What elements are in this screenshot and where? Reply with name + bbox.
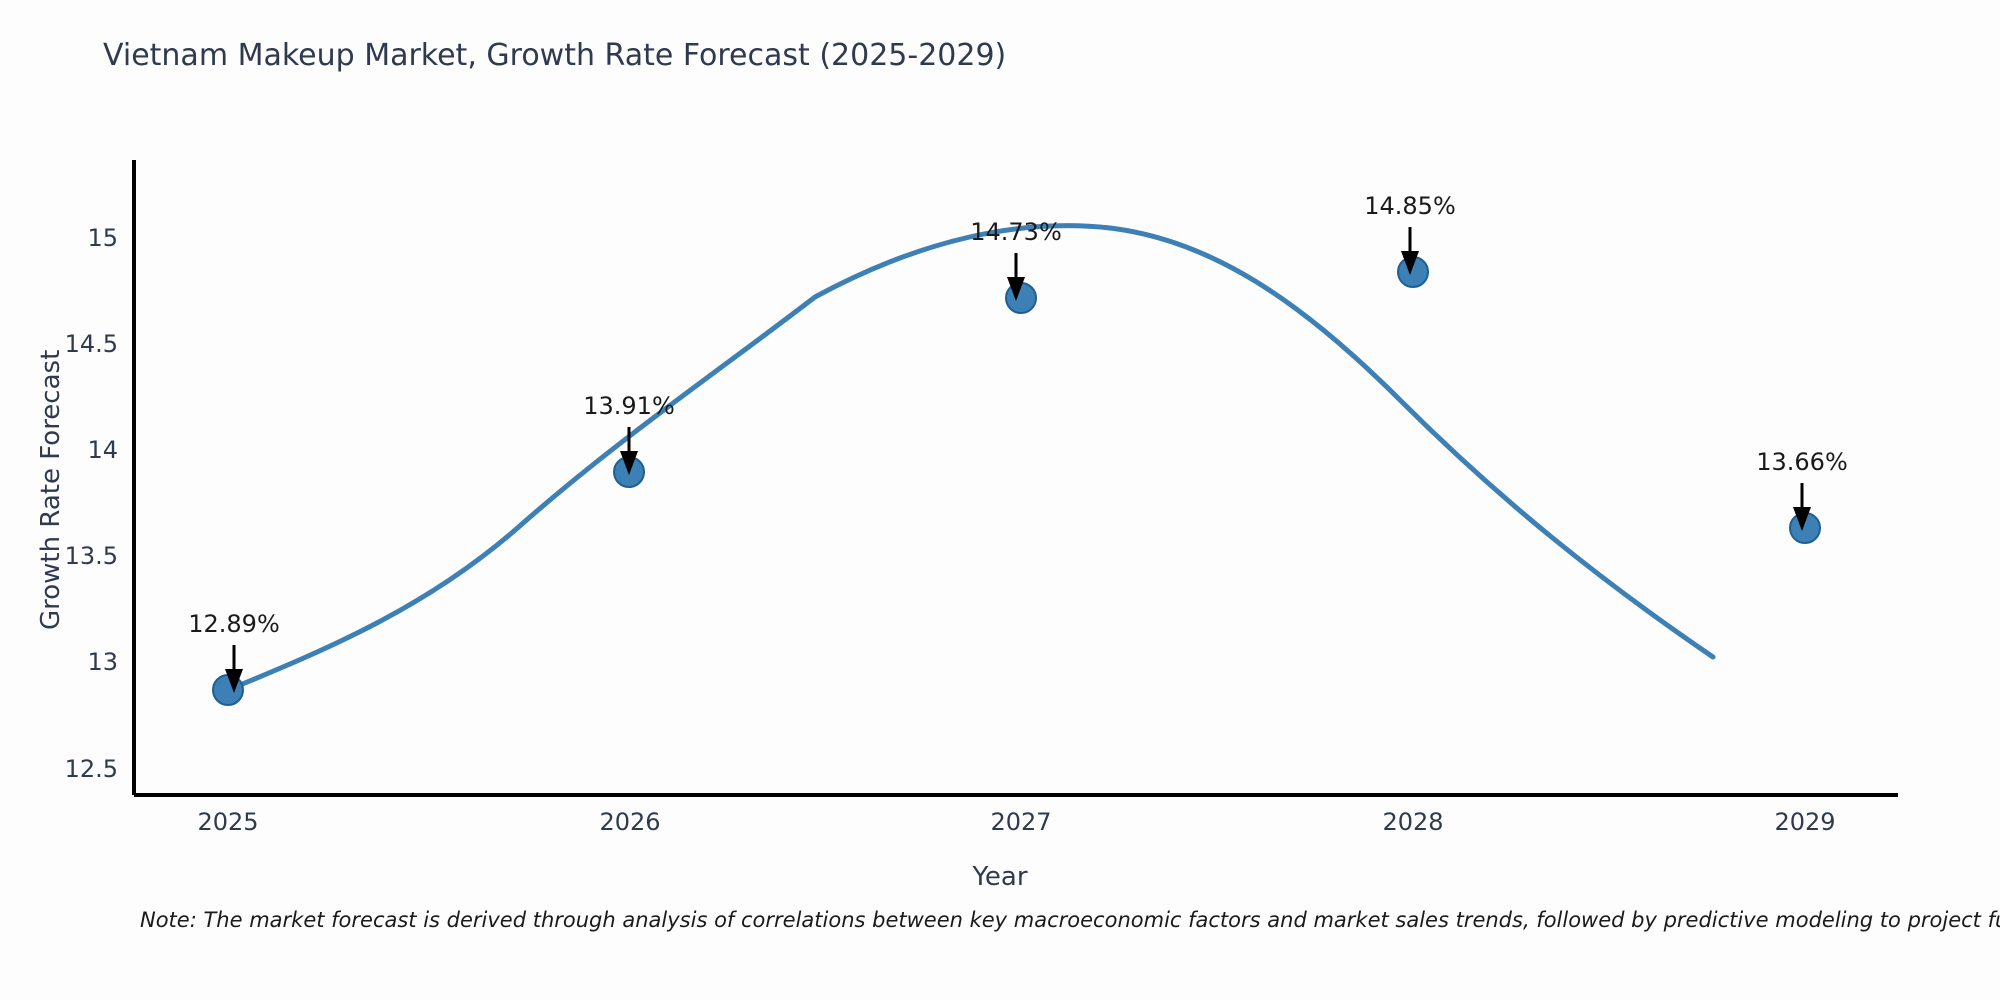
data-point-label: 13.66% [1702,448,1902,476]
plot-canvas [0,0,2000,1000]
data-point-label: 13.91% [529,392,729,420]
data-series-line [228,226,1713,690]
chart-note: Note: The market forecast is derived thr… [140,908,2000,932]
data-point-label: 14.73% [916,218,1116,246]
data-point-label: 12.89% [134,610,334,638]
chart-figure: Vietnam Makeup Market, Growth Rate Forec… [0,0,2000,1000]
data-point-label: 14.85% [1310,192,1510,220]
